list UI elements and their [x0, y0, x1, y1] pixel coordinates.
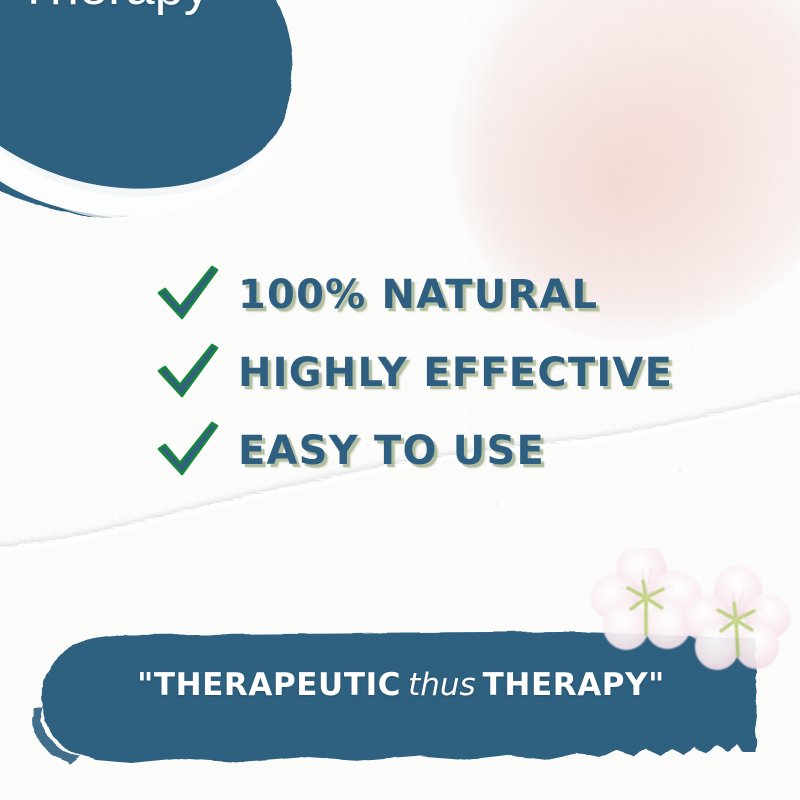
poster-canvas: Why Therapy 100% NATURAL HIGHLY EFFECTIV…: [0, 0, 800, 800]
check-icon: [156, 263, 220, 327]
checklist-item: HIGHLY EFFECTIVE: [0, 334, 800, 412]
quote-open-mark: ": [137, 667, 154, 703]
why-therapy-badge: Why Therapy: [0, 0, 324, 260]
check-icon: [156, 419, 220, 483]
quote-part-1: THERAPEUTIC: [154, 667, 401, 703]
quote-close-mark: ": [648, 667, 665, 703]
check-icon: [156, 341, 220, 405]
quote-part-2: THERAPY: [483, 667, 649, 703]
checklist-item: EASY TO USE: [0, 412, 800, 490]
checklist-item-label: 100% NATURAL: [238, 272, 598, 318]
checklist-item: 100% NATURAL: [0, 256, 800, 334]
checklist-item-label: HIGHLY EFFECTIVE: [238, 350, 673, 396]
quote-emphasis: thus: [401, 667, 483, 703]
benefits-checklist: 100% NATURAL HIGHLY EFFECTIVE EASY TO US…: [0, 256, 800, 490]
flower-decoration-group: [588, 548, 800, 672]
checklist-item-label: EASY TO USE: [238, 428, 545, 474]
